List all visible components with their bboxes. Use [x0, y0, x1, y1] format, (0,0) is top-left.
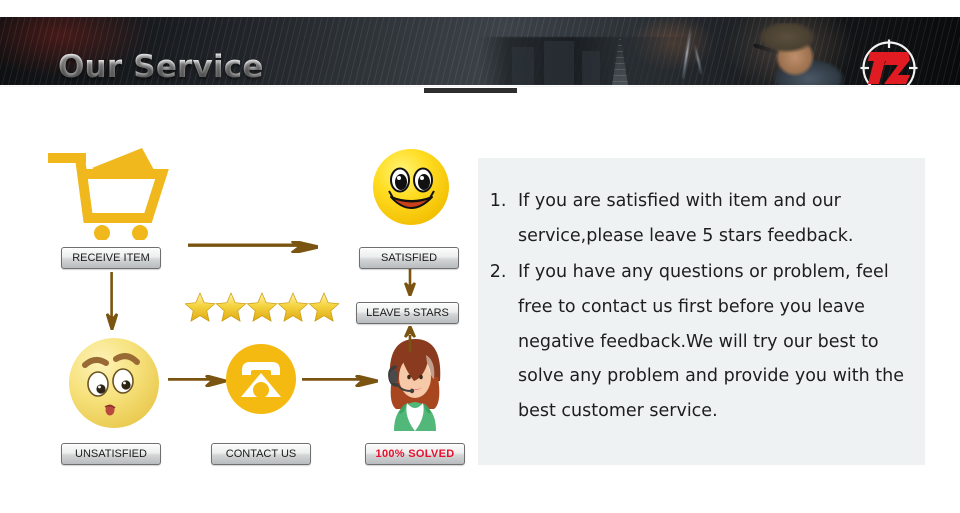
ts-target-logo — [860, 39, 918, 85]
building-shape — [582, 51, 600, 85]
label-unsatisfied[interactable]: UNSATISFIED — [61, 443, 161, 465]
soldier-photo — [735, 23, 865, 85]
label-receive-item[interactable]: RECEIVE ITEM — [61, 247, 161, 269]
service-flow-diagram: RECEIVE ITEM SATISFIED LEAVE 5 STARS UNS… — [0, 100, 470, 500]
tab-indicator — [424, 88, 517, 93]
arrow-contact-to-solved — [302, 374, 378, 386]
headset-boom — [753, 43, 779, 55]
label-contact-us[interactable]: CONTACT US — [211, 443, 311, 465]
feedback-policy-panel: If you are satisfied with item and our s… — [478, 158, 925, 465]
label-100-percent-solved[interactable]: 100% SOLVED — [365, 443, 465, 465]
five-stars-icon — [185, 292, 340, 322]
arrow-receive-to-unsatisfied — [106, 272, 118, 330]
our-service-banner: Our Service — [0, 0, 960, 513]
arrow-receive-to-satisfied — [188, 240, 318, 252]
smiley-happy-icon — [372, 148, 450, 226]
label-satisfied[interactable]: SATISFIED — [359, 247, 459, 269]
building-shape — [544, 41, 574, 85]
list-item: If you are satisfied with item and our s… — [512, 184, 905, 253]
arrow-satisfied-to-stars — [404, 268, 416, 296]
smiley-worried-icon — [68, 337, 160, 429]
page-title: Our Service — [58, 49, 264, 85]
header-divider — [0, 86, 960, 87]
list-item: If you have any questions or problem, fe… — [512, 255, 905, 428]
building-shape — [512, 47, 534, 85]
arrow-unsatisfied-to-contact — [168, 374, 226, 386]
policy-list: If you are satisfied with item and our s… — [478, 158, 925, 428]
shopping-cart-icon — [42, 144, 178, 240]
label-leave-5-stars[interactable]: LEAVE 5 STARS — [356, 302, 459, 324]
telephone-icon — [225, 343, 297, 415]
arrow-solved-to-stars — [404, 326, 416, 352]
header-banner: Our Service — [0, 17, 960, 85]
